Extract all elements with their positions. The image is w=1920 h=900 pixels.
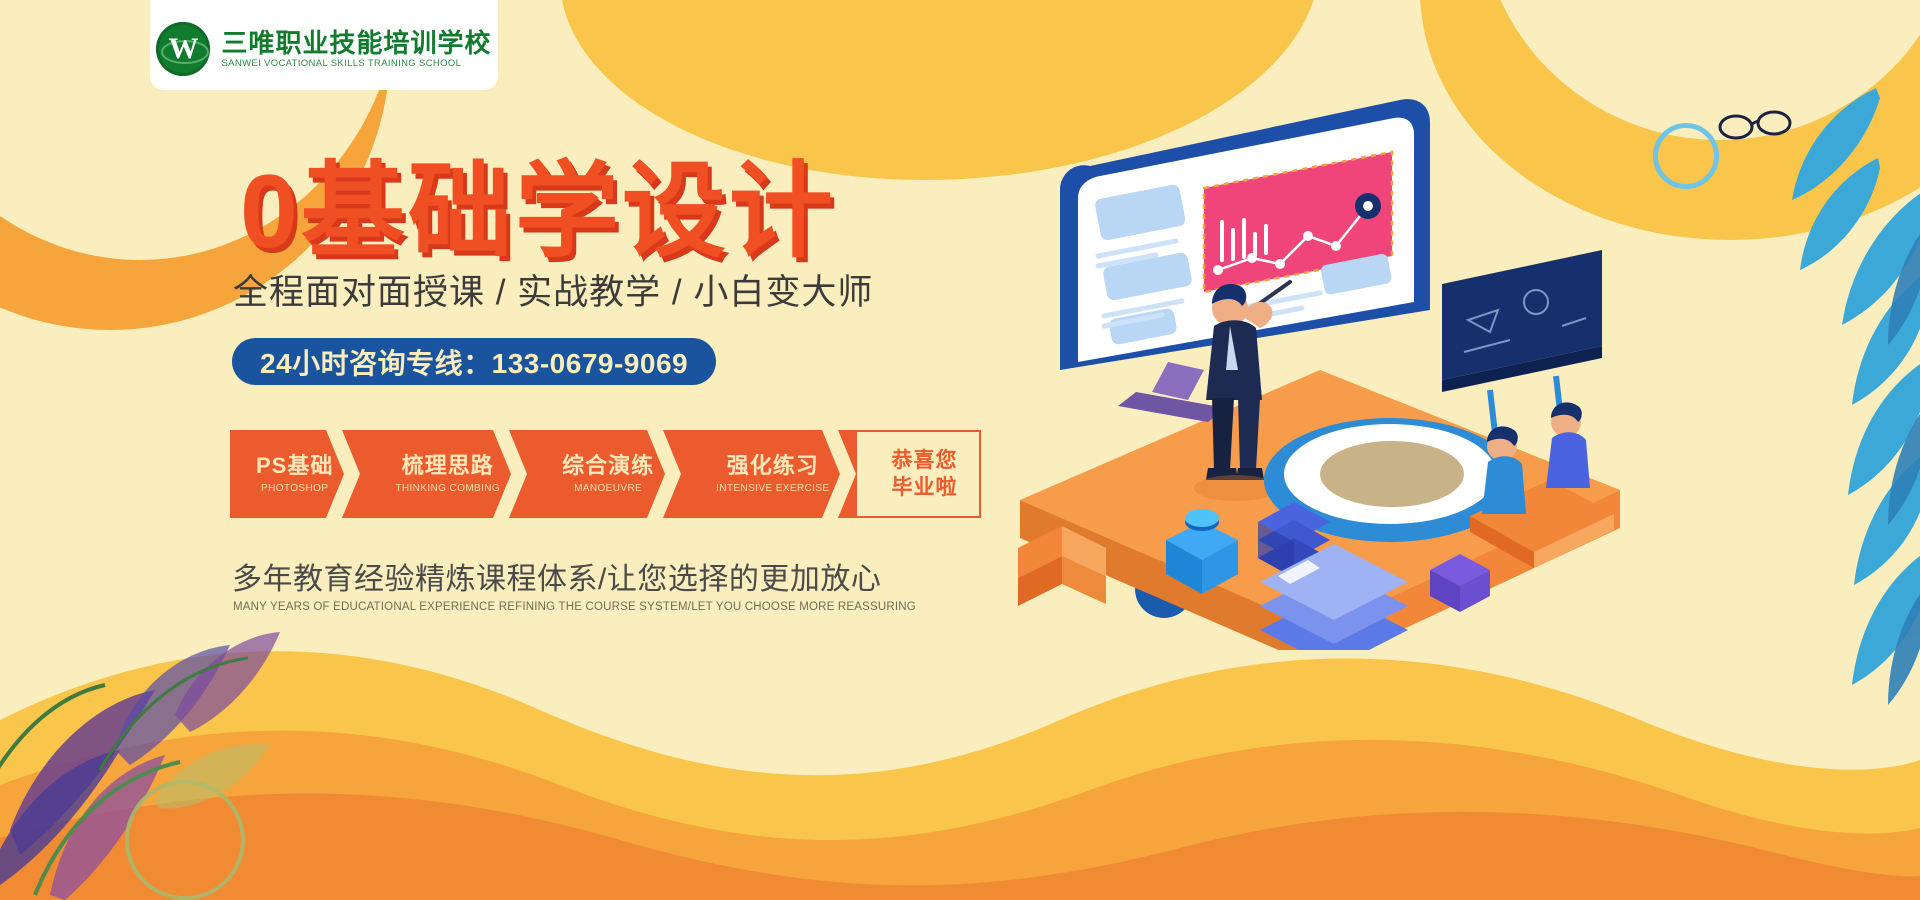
- step-label-cn: PS基础: [256, 455, 333, 477]
- hero-subheadline: 全程面对面授课 / 实战教学 / 小白变大师: [233, 275, 873, 310]
- process-step[interactable]: 综合演练 MANOEUVRE: [526, 430, 680, 518]
- step-label-en: INTENSIVE EXERCISE: [716, 484, 829, 494]
- step-label-cn: 强化练习: [727, 455, 819, 477]
- school-name-cn: 三唯职业技能培训学校: [221, 30, 491, 56]
- chevron-right-icon: [493, 430, 527, 518]
- step-label-en: PHOTOSHOP: [261, 484, 328, 494]
- graduation-badge[interactable]: 恭喜您 毕业啦: [855, 430, 981, 518]
- hotline-label: 24小时咨询专线：133-0679-9069: [260, 342, 688, 382]
- isometric-classroom-illustration: [990, 70, 1630, 650]
- step-label-cn: 梳理思路: [402, 455, 494, 477]
- logo-card[interactable]: W 三唯职业技能培训学校 SANWEI VOCATIONAL SKILLS TR…: [150, 0, 498, 90]
- hotline-button[interactable]: 24小时咨询专线：133-0679-9069: [232, 338, 716, 385]
- graduation-line-1: 恭喜您: [891, 447, 957, 474]
- process-step[interactable]: 强化练习 INTENSIVE EXERCISE: [680, 430, 855, 518]
- footer-tagline-en: MANY YEARS OF EDUCATIONAL EXPERIENCE REF…: [233, 602, 916, 614]
- process-step[interactable]: PS基础 PHOTOSHOP: [230, 430, 359, 518]
- step-label-en: THINKING COMBING: [395, 484, 500, 494]
- step-label-cn: 综合演练: [562, 455, 654, 477]
- decor-leaves-top-right: [1700, 80, 1880, 280]
- promo-banner: W 三唯职业技能培训学校 SANWEI VOCATIONAL SKILLS TR…: [0, 0, 1920, 900]
- decor-leaves-left: [0, 500, 300, 900]
- step-label-en: MANOEUVRE: [574, 484, 642, 494]
- footer-tagline-cn: 多年教育经验精炼课程体系/让您选择的更加放心: [232, 565, 881, 595]
- logo-letter: W: [168, 34, 198, 64]
- graduation-line-2: 毕业啦: [891, 474, 957, 501]
- course-process-steps: PS基础 PHOTOSHOP 梳理思路 THINKING COMBING 综合演…: [230, 430, 981, 518]
- chevron-right-icon: [822, 430, 856, 518]
- school-logo-icon: W: [156, 22, 210, 76]
- hero-headline: 0基础学设计: [240, 160, 836, 264]
- school-name-en: SANWEI VOCATIONAL SKILLS TRAINING SCHOOL: [221, 59, 491, 69]
- process-step[interactable]: 梳理思路 THINKING COMBING: [359, 430, 526, 518]
